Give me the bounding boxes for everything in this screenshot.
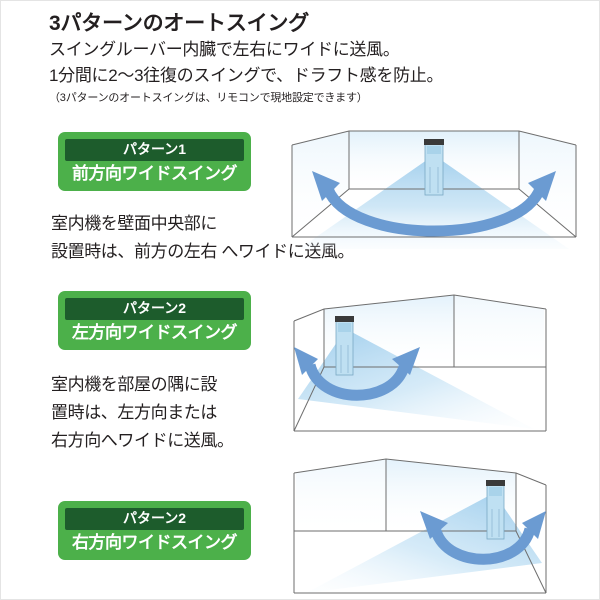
- product-feature-panel: 3パターンのオートスイング スイングルーバー内臓で左右にワイドに送風。 1分間に…: [0, 0, 600, 600]
- pattern-badge-1-inner: パターン1: [65, 139, 244, 161]
- pattern-2-body-line-1: 室内機を部屋の隅に設: [51, 372, 217, 399]
- pattern-1-body-line-1: 室内機を壁面中央部に: [51, 211, 217, 238]
- indoor-unit: [424, 139, 444, 195]
- pattern-badge-3-inner: パターン2: [65, 508, 244, 530]
- pattern-2-body-line-3: 右方向へワイドに送風。: [51, 428, 234, 455]
- pattern-badge-3: パターン2 右方向ワイドスイング: [58, 501, 251, 560]
- pattern-badge-1-title: 前方向ワイドスイング: [65, 161, 244, 186]
- header-subline-1: スイングルーバー内臓で左右にワイドに送風。: [49, 37, 589, 63]
- indoor-unit: [486, 480, 505, 539]
- pattern-badge-1: パターン1 前方向ワイドスイング: [58, 132, 251, 191]
- room-diagram-front-wide-swing: [284, 127, 584, 272]
- pattern-badge-2-title: 左方向ワイドスイング: [65, 320, 244, 345]
- pattern-badge-3-label: パターン2: [65, 511, 244, 526]
- pattern-badge-1-label: パターン1: [65, 142, 244, 157]
- right-back-wall-fill: [454, 295, 544, 367]
- room-diagram-right-wide-swing: [284, 453, 584, 600]
- header-subline-2: 1分間に2～3往復のスイングで、ドラフト感を防止。: [49, 63, 589, 89]
- pattern-badge-2-inner: パターン2: [65, 298, 244, 320]
- pattern-badge-3-title: 右方向ワイドスイング: [65, 530, 244, 555]
- room-diagram-left-wide-swing: [284, 289, 584, 439]
- header-block: 3パターンのオートスイング スイングルーバー内臓で左右にワイドに送風。 1分間に…: [49, 11, 589, 107]
- pattern-2-body-line-2: 置時は、左方向または: [51, 400, 217, 427]
- header-note: （3パターンのオートスイングは、リモコンで現地設定できます）: [49, 90, 589, 107]
- pattern-badge-2-label: パターン2: [65, 301, 244, 316]
- indoor-unit: [335, 316, 354, 375]
- page-title: 3パターンのオートスイング: [49, 11, 589, 37]
- left-back-wall-fill: [296, 459, 386, 531]
- pattern-badge-2: パターン2 左方向ワイドスイング: [58, 291, 251, 350]
